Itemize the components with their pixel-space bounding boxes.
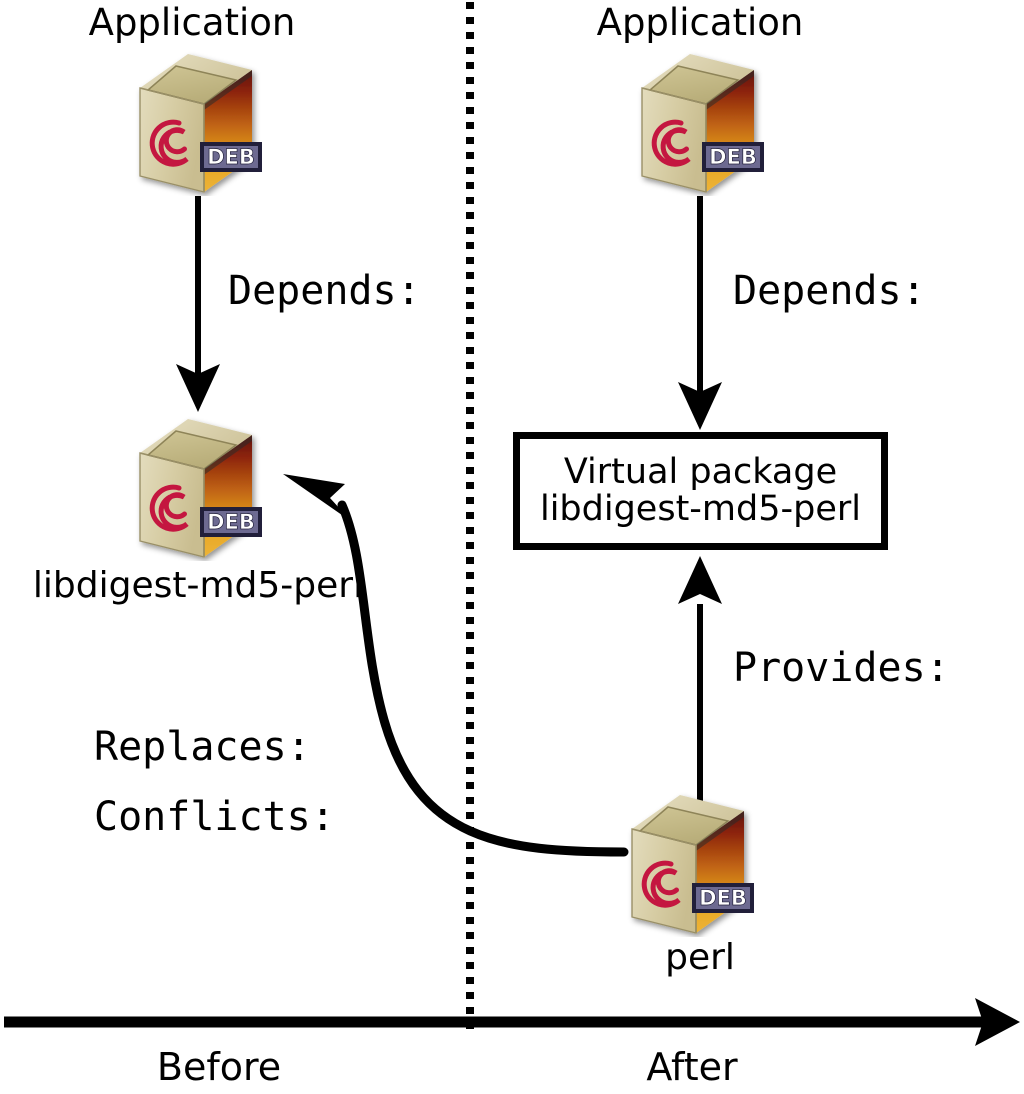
before-depends-label: Depends: xyxy=(228,271,421,311)
arrow-before-depends xyxy=(176,196,220,412)
deb-badge: DEB xyxy=(692,883,754,913)
conflicts-label: Conflicts: xyxy=(94,797,335,837)
svg-text:DEB: DEB xyxy=(699,886,747,910)
time-axis xyxy=(4,998,1020,1046)
deb-package-icon: DEB xyxy=(118,46,278,196)
axis-label-after: After xyxy=(646,1048,737,1086)
libdigest-md5-perl-label: libdigest-md5-perl xyxy=(33,568,363,604)
svg-text:DEB: DEB xyxy=(207,145,255,169)
svg-text:DEB: DEB xyxy=(709,145,757,169)
deb-badge: DEB xyxy=(200,507,262,537)
arrow-after-depends xyxy=(678,196,722,430)
deb-package-icon: DEB xyxy=(118,411,278,561)
after-heading: Application xyxy=(597,4,804,41)
arrow-provides xyxy=(678,556,722,826)
deb-package-icon: DEB xyxy=(620,46,780,196)
axis-label-before: Before xyxy=(157,1048,281,1086)
diagram-canvas: DEB DEB xyxy=(0,0,1024,1094)
virtual-package-line1: Virtual package xyxy=(564,454,837,491)
svg-text:DEB: DEB xyxy=(207,510,255,534)
replaces-label: Replaces: xyxy=(94,727,311,767)
deb-package-icon: DEB xyxy=(610,787,770,937)
after-depends-label: Depends: xyxy=(733,271,926,311)
deb-badge: DEB xyxy=(200,142,262,172)
before-heading: Application xyxy=(89,4,296,41)
perl-label: perl xyxy=(665,940,735,976)
provides-label: Provides: xyxy=(733,648,950,688)
virtual-package-line2: libdigest-md5-perl xyxy=(540,491,861,528)
virtual-package-box: Virtual package libdigest-md5-perl xyxy=(513,432,888,550)
deb-badge: DEB xyxy=(702,142,764,172)
